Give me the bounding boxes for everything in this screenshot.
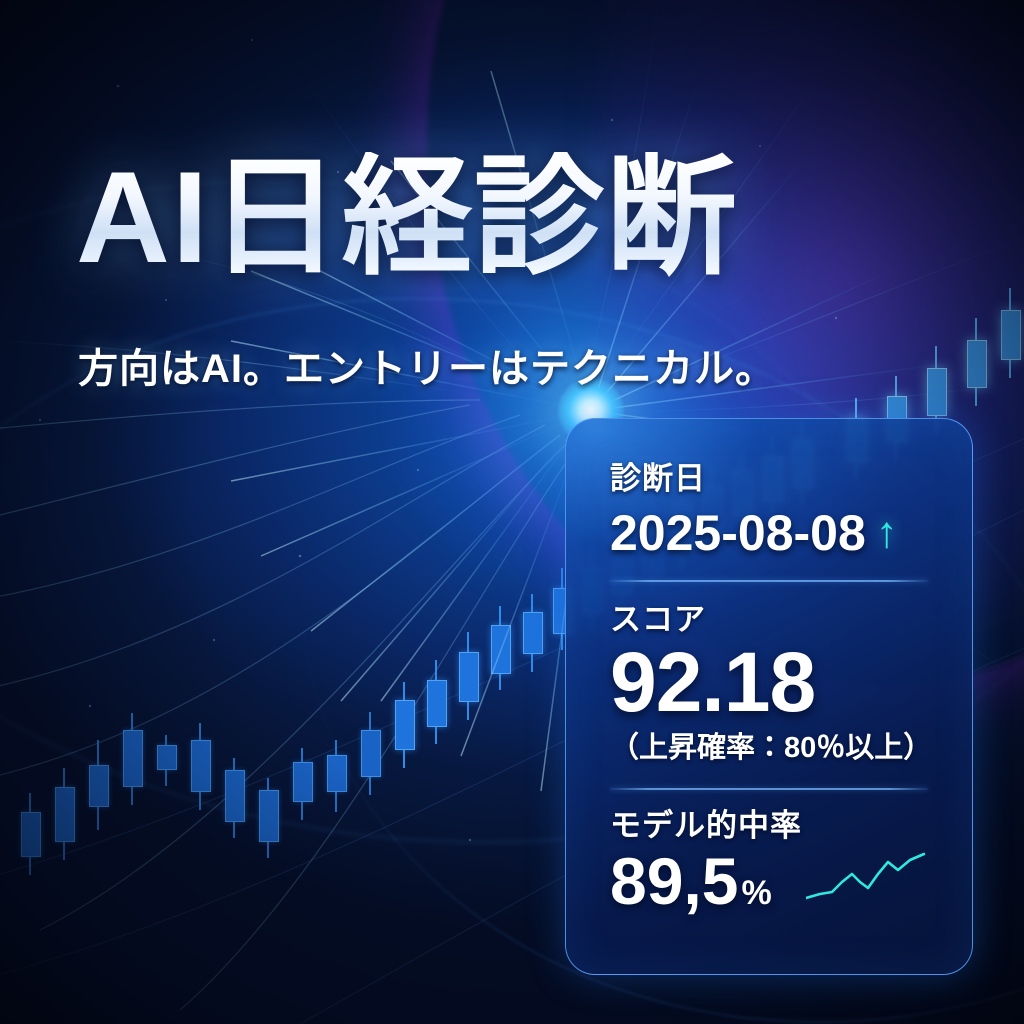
accuracy-value-group: 89,5% bbox=[610, 848, 772, 914]
poster-canvas: AI日経診断 方向はAI。エントリーはテクニカル。 診断日 2025-08-08… bbox=[0, 0, 1024, 1024]
accuracy-value: 89,5 bbox=[610, 848, 738, 914]
page-title: AI日経診断 bbox=[76, 152, 738, 282]
accuracy-unit: % bbox=[741, 876, 771, 910]
card-divider-2 bbox=[610, 788, 928, 790]
diagnosis-date-label: 診断日 bbox=[610, 463, 930, 496]
diagnosis-date-row: 2025-08-08 ↑ bbox=[610, 508, 930, 558]
card-divider-1 bbox=[610, 580, 928, 582]
diagnosis-date-value: 2025-08-08 bbox=[610, 508, 866, 558]
score-note: （上昇確率：80％以上） bbox=[610, 724, 930, 766]
arrow-up-icon: ↑ bbox=[876, 511, 898, 555]
score-label: スコア bbox=[610, 604, 930, 637]
diagnosis-summary-card: 診断日 2025-08-08 ↑ スコア 92.18 （上昇確率：80％以上） … bbox=[565, 418, 973, 975]
accuracy-label: モデル的中率 bbox=[610, 810, 930, 843]
score-value: 92.18 bbox=[610, 640, 930, 726]
page-subtitle: 方向はAI。エントリーはテクニカル。 bbox=[78, 336, 776, 394]
accuracy-row: 89,5% bbox=[610, 848, 930, 914]
accuracy-sparkline bbox=[806, 852, 936, 908]
